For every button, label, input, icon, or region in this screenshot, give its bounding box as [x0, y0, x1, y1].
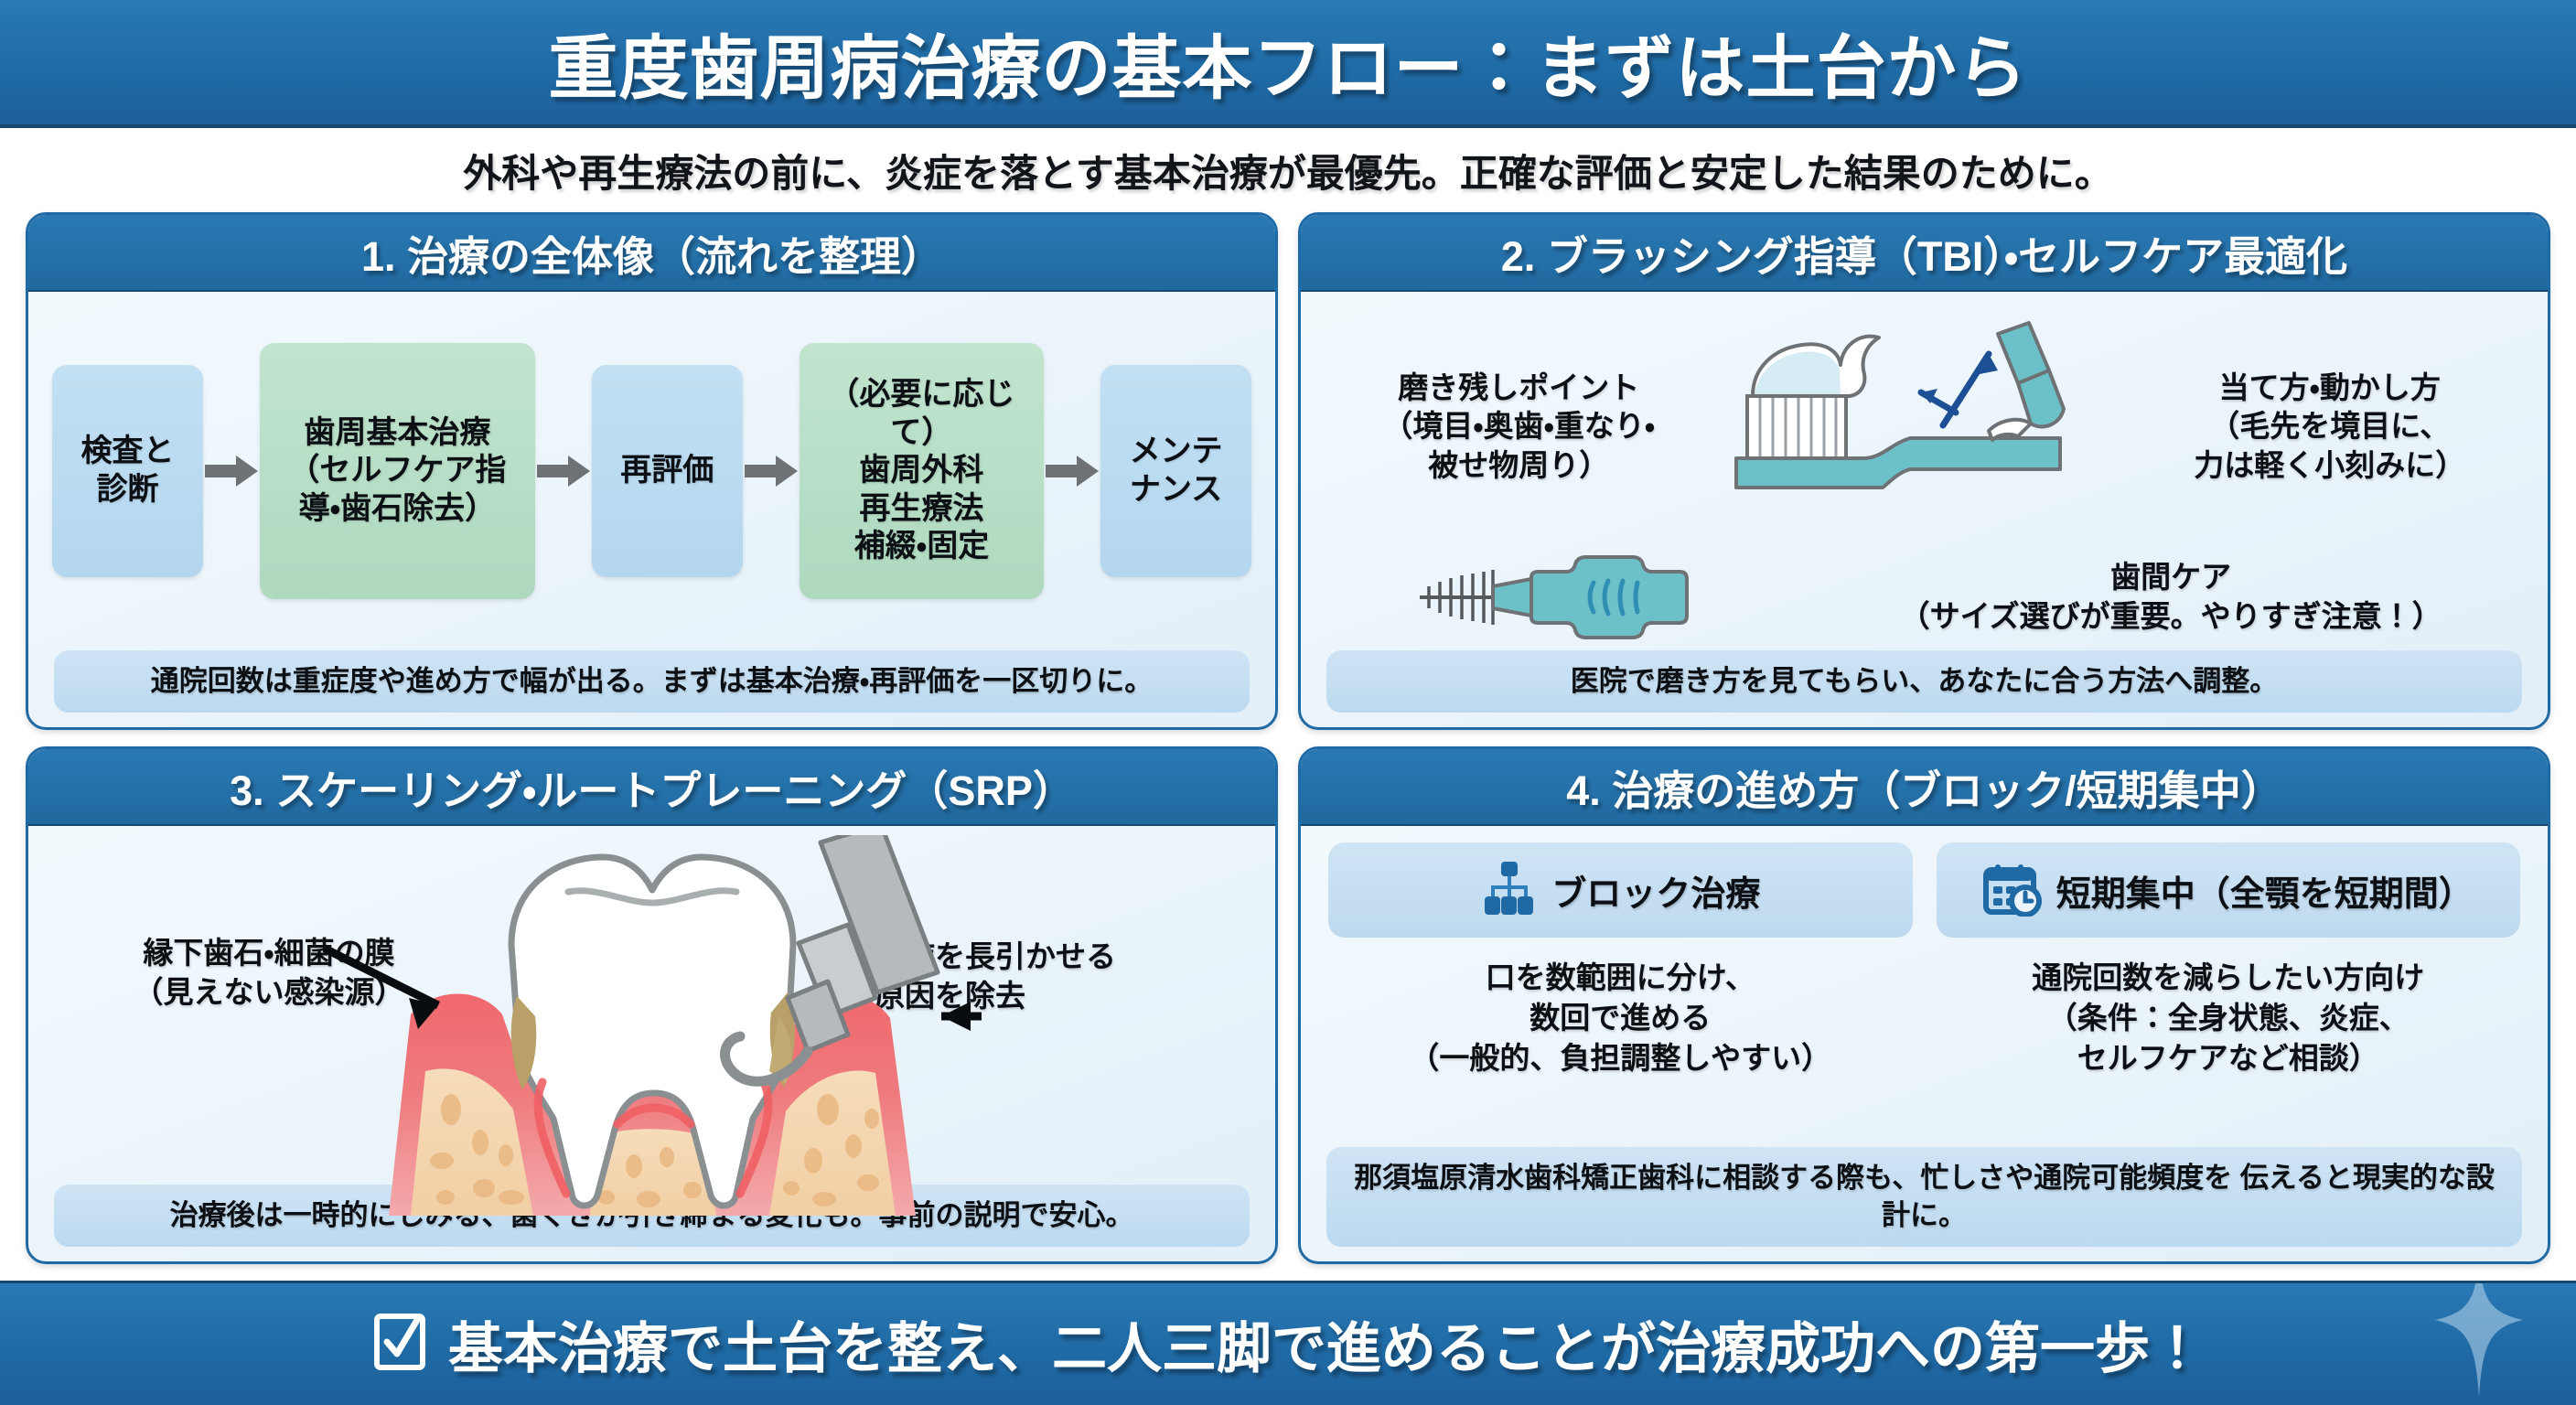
flow-step-4-label: （必要に応じて） 歯周外科 再生療法 補綴・固定	[805, 376, 1038, 565]
flow-step-2: 歯周基本治療 （セルフケア指 導・歯石除去）	[260, 343, 535, 599]
panel-2-note: 医院で磨き方を見てもらい、あなたに合う方法へ調整。	[1326, 650, 2522, 713]
panel-4-title: 4. 治療の進め方（ブロック/短期集中）	[1566, 757, 2282, 817]
panel-2-title: 2. ブラッシング指導（TBI）・セルフケア最適化	[1501, 223, 2347, 283]
intensive-treatment-description: 通院回数を減らしたい方向け （条件：全身状態、炎症、 セルフケアなど相談）	[2032, 958, 2424, 1079]
flow-step-1: 検査と 診断	[52, 365, 203, 577]
missed-spots-label: 磨き残しポイント （境目・奥歯・重なり・ 被せ物周り）	[1323, 369, 1715, 487]
panel-brushing-instruction: 2. ブラッシング指導（TBI）・セルフケア最適化 磨き残しポイント （境目・奥…	[1298, 212, 2550, 730]
interdental-brush-illustration	[1323, 552, 1816, 643]
panel-1-note: 通院回数は重症度や進め方で幅が出る。まずは基本治療・再評価を一区切りに。	[54, 650, 1250, 713]
plan-option-intensive: 短期集中（全顎を短期間） 通院回数を減らしたい方向け （条件：全身状態、炎症、 …	[1937, 842, 2521, 1142]
left-pointer-arrow	[323, 906, 438, 1029]
plan-option-block: ブロック治療 口を数範囲に分け、 数回で進める （一般的、負担調整しやすい）	[1328, 842, 1913, 1142]
brushing-bottom-row: 歯間ケア （サイズ選びが重要。やりすぎ注意！）	[1319, 552, 2529, 650]
panel-1-body: 検査と 診断 歯周基本治療 （セルフケア指 導・歯石除去） 再評価	[28, 292, 1275, 727]
interdental-care-label: 歯間ケア （サイズ選びが重要。やりすぎ注意！）	[1816, 558, 2526, 637]
flow-arrow-4-icon	[1044, 453, 1100, 489]
panel-4-header: 4. 治療の進め方（ブロック/短期集中）	[1301, 749, 2548, 826]
panel-3-body: 縁下歯石・細菌の膜 （見えない感染源） 炎症を長引かせる 原因を除去	[28, 826, 1275, 1261]
page-title-bar: 重度歯周病治療の基本フロー：まずは土台から	[0, 0, 2576, 128]
sitemap-icon	[1480, 860, 1537, 921]
plan-options: ブロック治療 口を数範囲に分け、 数回で進める （一般的、負担調整しやすい）	[1319, 835, 2529, 1147]
panel-1-header: 1. 治療の全体像（流れを整理）	[28, 215, 1275, 292]
checkbox-checked-icon	[371, 1311, 428, 1378]
block-treatment-label: ブロック治療	[1551, 865, 1760, 916]
flow-step-5: メンテ ナンス	[1100, 365, 1251, 577]
toothbrush-illustration	[1719, 317, 2131, 537]
panel-4-body: ブロック治療 口を数範囲に分け、 数回で進める （一般的、負担調整しやすい）	[1301, 826, 2548, 1261]
tooth-scaling-illustration	[323, 835, 982, 1238]
calendar-clock-icon	[1983, 860, 2042, 921]
bottom-banner: 基本治療で土台を整え、二人三脚で進めることが治療成功への第一歩！	[0, 1281, 2576, 1405]
panel-treatment-plan: 4. 治療の進め方（ブロック/短期集中）	[1298, 746, 2550, 1264]
page-subtitle: 外科や再生療法の前に、炎症を落とす基本治療が最優先。正確な評価と安定した結果のた…	[463, 143, 2112, 198]
sparkle-decoration-icon	[2435, 1281, 2523, 1397]
right-pointer-arrow	[941, 1002, 982, 1031]
block-treatment-description: 口を数範囲に分け、 数回で進める （一般的、負担調整しやすい）	[1409, 958, 1831, 1079]
flow-step-2-label: 歯周基本治療 （セルフケア指 導・歯石除去）	[288, 414, 506, 528]
flow-arrow-3-icon	[743, 453, 800, 489]
flow-step-3: 再評価	[592, 365, 743, 577]
panel-2-body: 磨き残しポイント （境目・奥歯・重なり・ 被せ物周り）	[1301, 292, 2548, 727]
panel-1-note-text: 通院回数は重症度や進め方で幅が出る。まずは基本治療・再評価を一区切りに。	[70, 663, 1233, 700]
flow-step-1-label: 検査と 診断	[80, 433, 174, 509]
intensive-treatment-chip[interactable]: 短期集中（全顎を短期間）	[1937, 842, 2521, 938]
panel-4-note-text: 那須塩原清水歯科矯正歯科に相談する際も、忙しさや通院可能頻度を 伝えると現実的な…	[1343, 1160, 2506, 1234]
flow-step-3-label: 再評価	[620, 452, 714, 489]
panel-srp: 3. スケーリング・ルートプレーニング（SRP） 縁下歯石・細菌の膜 （見えない…	[26, 746, 1278, 1264]
flow-arrow-1-icon	[203, 453, 260, 489]
srp-illustration-area: 縁下歯石・細菌の膜 （見えない感染源） 炎症を長引かせる 原因を除去	[47, 835, 1257, 1185]
panel-2-note-text: 医院で磨き方を見てもらい、あなたに合う方法へ調整。	[1343, 663, 2506, 700]
flow-step-5-label: メンテ ナンス	[1130, 433, 1223, 509]
panel-1-title: 1. 治療の全体像（流れを整理）	[361, 223, 942, 283]
panel-4-note: 那須塩原清水歯科矯正歯科に相談する際も、忙しさや通院可能頻度を 伝えると現実的な…	[1326, 1147, 2522, 1247]
intensive-treatment-label: 短期集中（全顎を短期間）	[2056, 865, 2474, 916]
page-subtitle-bar: 外科や再生療法の前に、炎症を落とす基本治療が最優先。正確な評価と安定した結果のた…	[0, 128, 2576, 212]
panel-3-title: 3. スケーリング・ルートプレーニング（SRP）	[230, 757, 1074, 817]
brushing-technique-label: 当て方・動かし方 （毛先を境目に、 力は軽く小刻みに）	[2133, 369, 2526, 487]
panel-grid: 1. 治療の全体像（流れを整理） 検査と 診断 歯周基本治療 （セルフケア指 導…	[26, 212, 2550, 1264]
panel-3-header: 3. スケーリング・ルートプレーニング（SRP）	[28, 749, 1275, 826]
brushing-top-row: 磨き残しポイント （境目・奥歯・重なり・ 被せ物周り）	[1319, 301, 2529, 552]
block-treatment-chip[interactable]: ブロック治療	[1328, 842, 1913, 938]
panel-treatment-overview: 1. 治療の全体像（流れを整理） 検査と 診断 歯周基本治療 （セルフケア指 導…	[26, 212, 1278, 730]
page-title: 重度歯周病治療の基本フロー：まずは土台から	[549, 12, 2028, 113]
flow-step-4: （必要に応じて） 歯周外科 再生療法 補綴・固定	[800, 343, 1044, 599]
treatment-flow: 検査と 診断 歯周基本治療 （セルフケア指 導・歯石除去） 再評価	[47, 301, 1257, 650]
flow-arrow-2-icon	[535, 453, 592, 489]
banner-text: 基本治療で土台を整え、二人三脚で進めることが治療成功への第一歩！	[448, 1304, 2205, 1384]
panel-2-header: 2. ブラッシング指導（TBI）・セルフケア最適化	[1301, 215, 2548, 292]
